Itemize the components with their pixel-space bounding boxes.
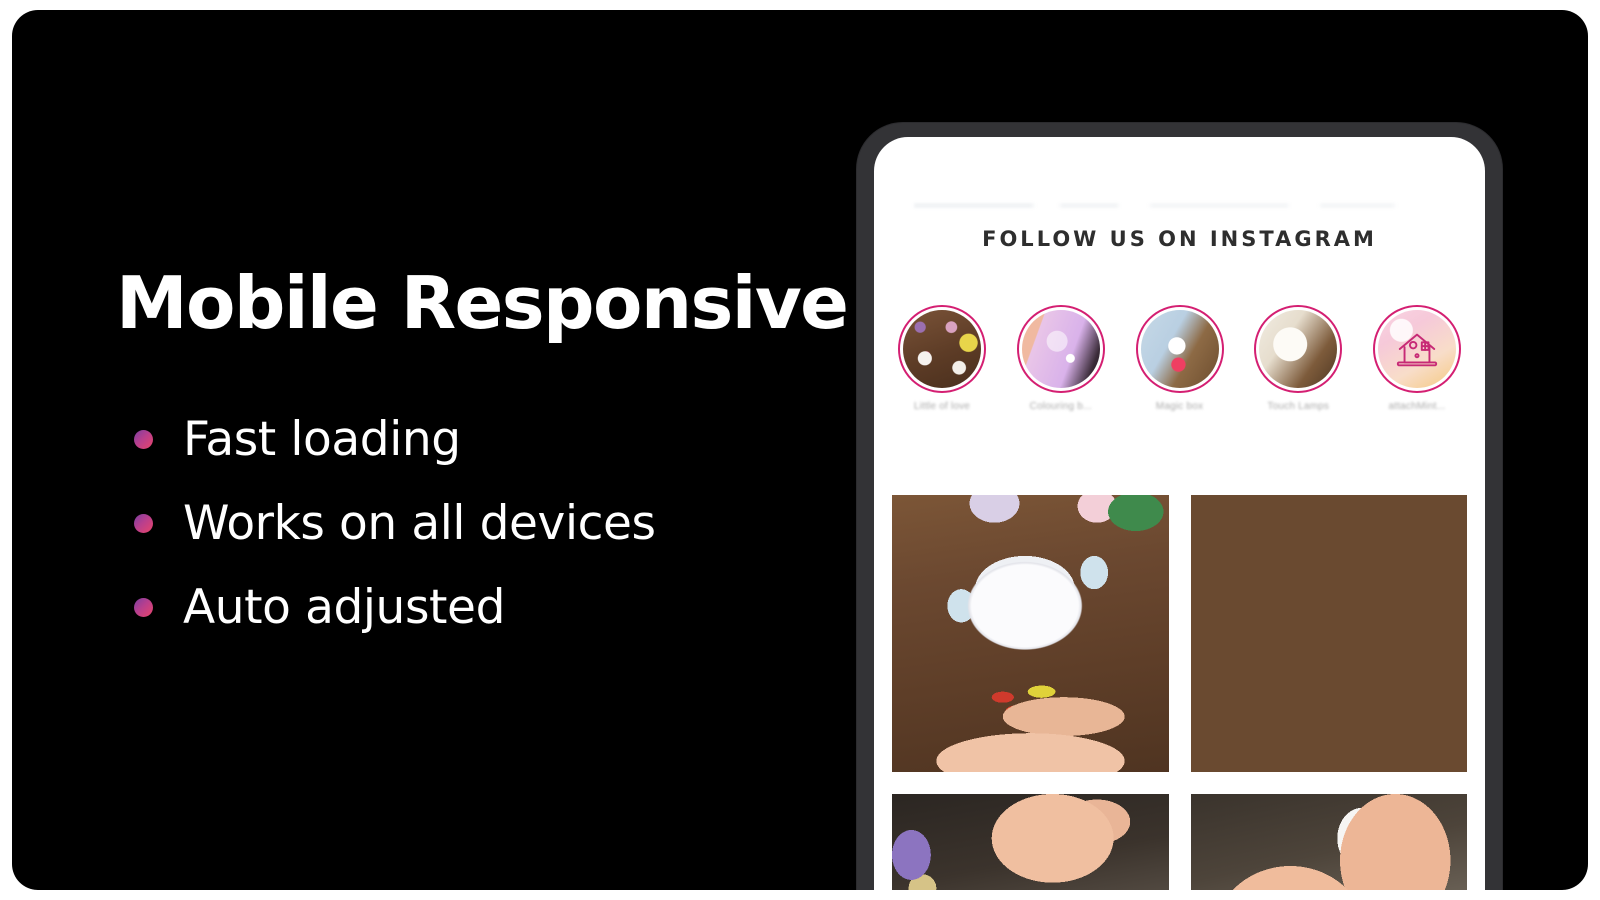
phone-screen: FOLLOW US ON INSTAGRAM Little of love Co… xyxy=(874,137,1485,890)
list-item: Fast loading xyxy=(116,397,816,481)
bullet-dot-icon xyxy=(134,514,153,533)
story-highlight-item[interactable]: Touch Lamps xyxy=(1252,305,1344,412)
story-highlight-item[interactable]: Little of love xyxy=(896,305,988,412)
story-thumb-unicorn-toys xyxy=(903,310,981,388)
story-highlight-item[interactable]: attachMint... xyxy=(1371,305,1463,412)
story-highlight-item[interactable]: Colouring b... xyxy=(1015,305,1107,412)
bullet-dot-icon xyxy=(134,598,153,617)
story-thumb-touch-lamp xyxy=(1259,310,1337,388)
phone-mockup: FOLLOW US ON INSTAGRAM Little of love Co… xyxy=(857,123,1502,890)
story-label: Colouring b... xyxy=(1030,401,1092,412)
story-label: Little of love xyxy=(914,401,970,412)
story-thumb-magic-box xyxy=(1141,310,1219,388)
scrolled-content-ghost xyxy=(914,203,1445,208)
instagram-photo[interactable] xyxy=(892,495,1169,772)
story-ring[interactable] xyxy=(1373,305,1461,393)
instagram-photo[interactable] xyxy=(1191,794,1468,890)
story-highlights-row: Little of love Colouring b... Magic box xyxy=(896,305,1463,412)
story-ring[interactable] xyxy=(898,305,986,393)
list-item: Works on all devices xyxy=(116,481,816,565)
page-title: Mobile Responsive xyxy=(116,265,816,341)
story-ring[interactable] xyxy=(1136,305,1224,393)
instagram-photo-grid xyxy=(892,495,1467,890)
bullet-label: Auto adjusted xyxy=(183,584,505,631)
story-highlight-item[interactable]: Magic box xyxy=(1134,305,1226,412)
story-label: Touch Lamps xyxy=(1267,401,1329,412)
home-icon xyxy=(1394,326,1440,372)
story-thumb-colouring-book xyxy=(1022,310,1100,388)
story-ring[interactable] xyxy=(1017,305,1105,393)
story-label: attachMint... xyxy=(1388,401,1445,412)
instagram-photo[interactable] xyxy=(1191,495,1468,772)
copy-block: Mobile Responsive Fast loading Works on … xyxy=(116,265,816,649)
instagram-photo[interactable] xyxy=(892,794,1169,890)
story-thumb-home xyxy=(1378,310,1456,388)
bullet-label: Fast loading xyxy=(183,416,461,463)
instagram-section-heading: FOLLOW US ON INSTAGRAM xyxy=(874,227,1485,251)
bullet-dot-icon xyxy=(134,430,153,449)
slide-canvas: Mobile Responsive Fast loading Works on … xyxy=(12,10,1588,890)
story-label: Magic box xyxy=(1156,401,1203,412)
bullet-label: Works on all devices xyxy=(183,500,656,547)
story-ring[interactable] xyxy=(1254,305,1342,393)
feature-bullet-list: Fast loading Works on all devices Auto a… xyxy=(116,397,816,649)
list-item: Auto adjusted xyxy=(116,565,816,649)
